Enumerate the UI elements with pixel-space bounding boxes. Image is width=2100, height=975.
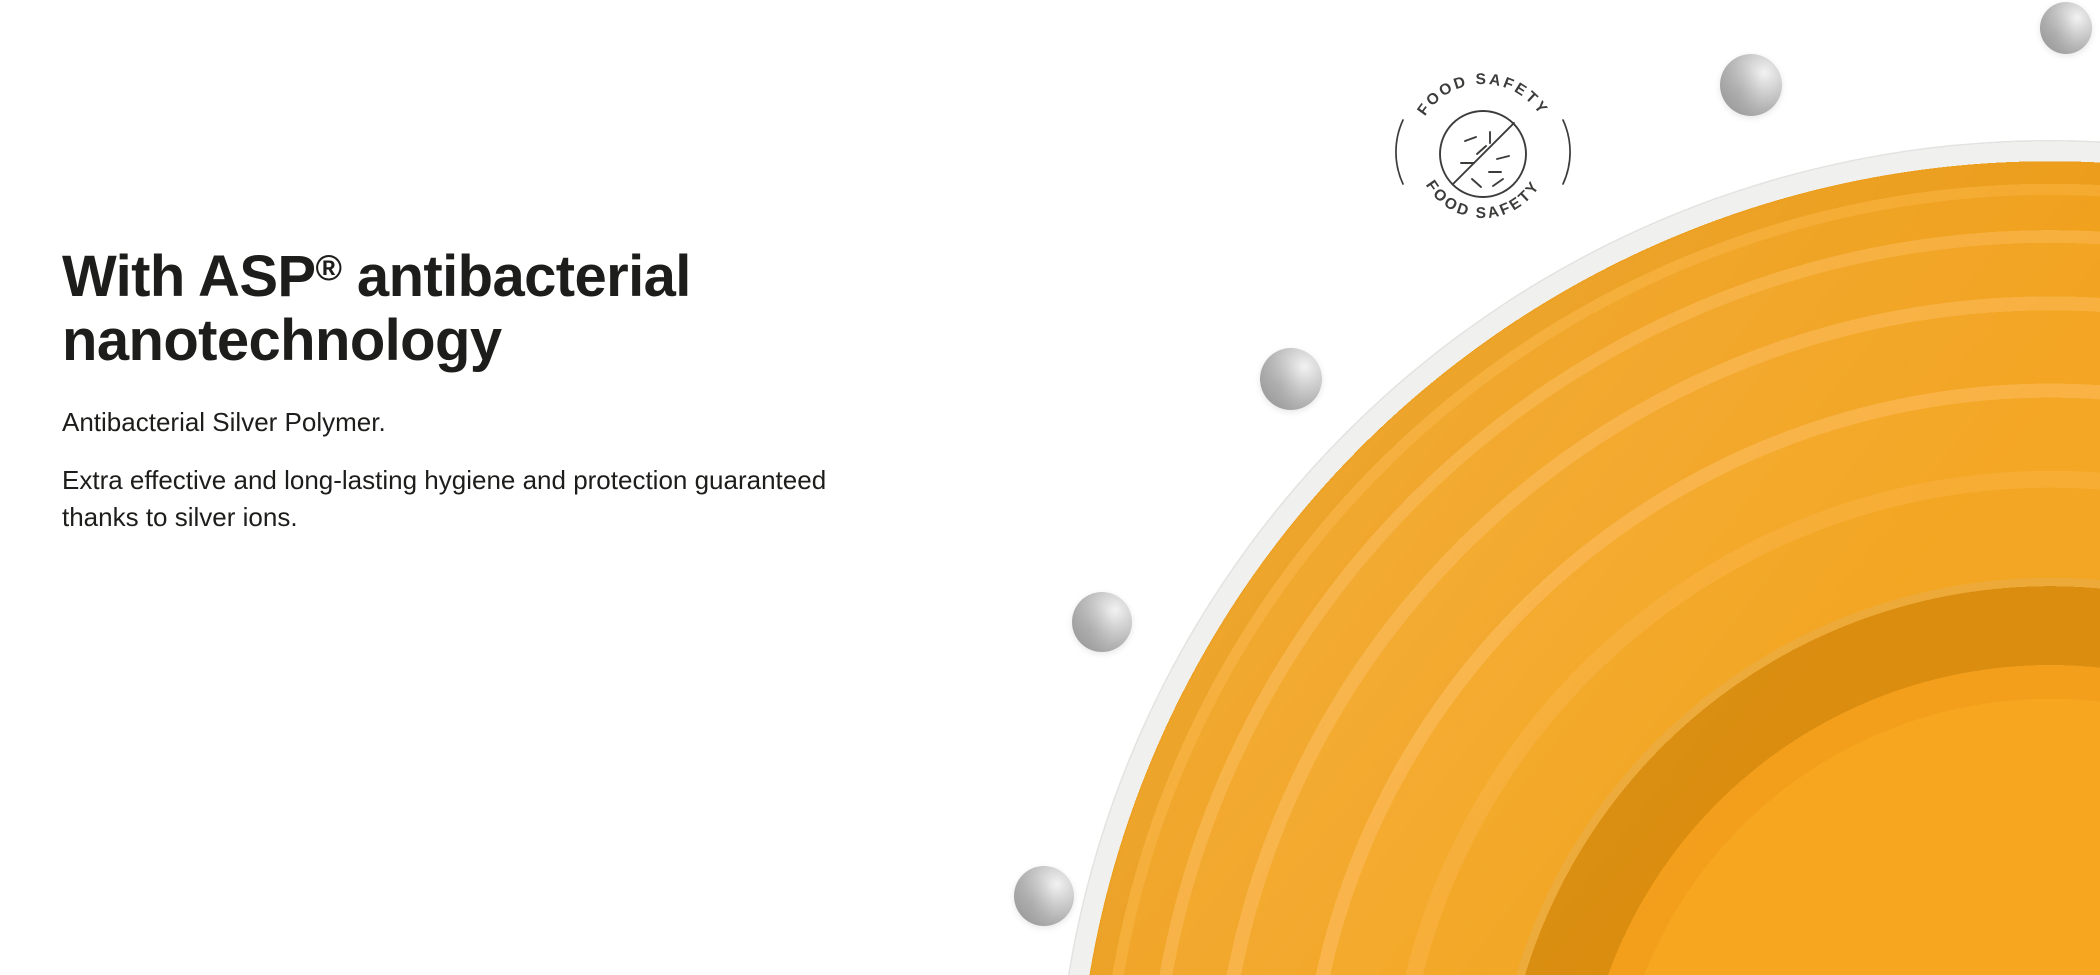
registered-trademark-symbol: ® xyxy=(316,247,342,288)
bowl-sheen-highlight xyxy=(1055,140,2100,975)
headline-text-1: With ASP xyxy=(62,244,316,309)
page-title: With ASP® antibacterial nanotechnology xyxy=(62,245,852,373)
sphere-2 xyxy=(1720,54,1782,116)
bowl-rim-shadow xyxy=(1055,140,2100,975)
badge-arc-right xyxy=(1563,120,1570,184)
hero-banner: FOOD SAFETY FOOD SAFETY With AS xyxy=(0,0,2100,975)
sphere-1 xyxy=(2040,2,2092,54)
no-bacteria-icon xyxy=(1440,111,1526,197)
copy-block: With ASP® antibacterial nanotechnology A… xyxy=(62,245,1122,536)
orange-bowl-image xyxy=(1055,140,2100,975)
badge-text-bottom: FOOD SAFETY xyxy=(1422,177,1544,222)
sphere-5 xyxy=(1014,866,1074,926)
badge-arc-left xyxy=(1396,120,1403,184)
sphere-3 xyxy=(1260,348,1322,410)
sphere-4 xyxy=(1072,592,1132,652)
food-safety-badge: FOOD SAFETY FOOD SAFETY xyxy=(1393,62,1573,242)
subheading: Antibacterial Silver Polymer. xyxy=(62,405,1122,440)
body-paragraph: Extra effective and long-lasting hygiene… xyxy=(62,462,852,536)
